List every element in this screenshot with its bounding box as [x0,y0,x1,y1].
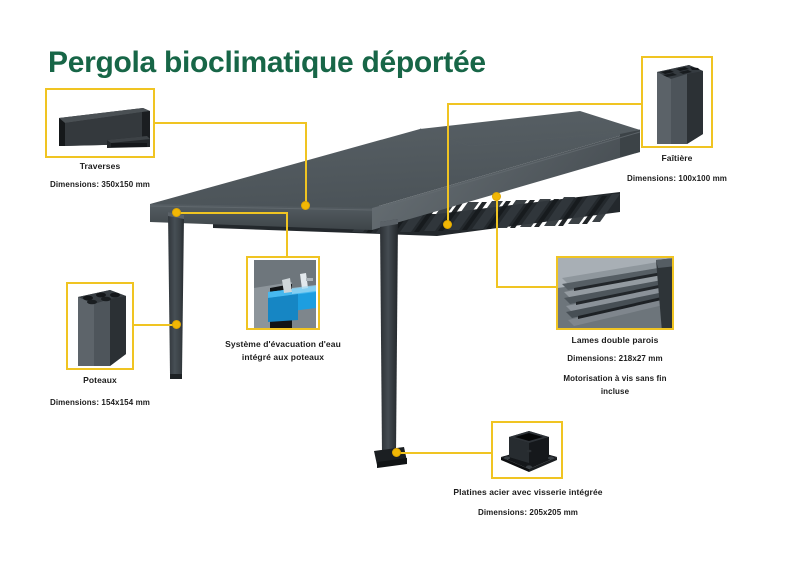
callout-label-lames: Lames double parois [545,334,685,347]
leader-dot-lames [492,192,501,201]
leader-traverses-v1 [305,122,307,206]
callout-label-traverses: Traverses [45,160,155,173]
leader-evac-v1 [286,212,288,257]
post-right [380,219,398,455]
leader-traverses-h1 [155,122,307,124]
ridge-profile-photo [643,58,711,146]
callout-label-evacuation-line2: intégré aux poteaux [208,351,358,364]
leader-dot-faitiere [443,220,452,229]
leader-lames-v1 [496,196,498,288]
post-left [168,212,184,374]
louvre-blades-photo [558,258,672,328]
callout-label-platines: Platines acier avec visserie intégrée [452,486,604,499]
steel-base-plate-photo [493,423,561,477]
callout-dimensions-faitiere: Dimensions: 100x100 mm [602,172,752,185]
diagram-canvas: Pergola bioclimatique déportée [0,0,800,566]
callout-label-faitiere: Faîtière [635,152,719,165]
leader-lames-h1 [496,286,556,288]
callout-dimensions-platines: Dimensions: 205x205 mm [452,506,604,519]
leader-poteaux-h1 [133,324,177,326]
callout-dimensions-poteaux: Dimensions: 154x154 mm [25,396,175,409]
traverse-beam-photo [47,90,153,156]
callout-poteaux[interactable] [66,282,134,370]
leader-dot-platines [392,448,401,457]
callout-label-poteaux: Poteaux [62,374,138,387]
callout-label-evacuation-line1: Système d'évacuation d'eau [208,338,358,351]
leader-dot-poteaux [172,320,181,329]
leader-dot-traverses [301,201,310,210]
leader-dot-evacuation [172,208,181,217]
leader-evac-h1 [176,212,288,214]
callout-extra-lames-line1: Motorisation à vis sans fin [540,372,690,385]
callout-dimensions-lames: Dimensions: 218x27 mm [545,352,685,365]
callout-traverses[interactable] [45,88,155,158]
leader-faitiere-v1 [447,103,449,225]
callout-lames[interactable] [556,256,674,330]
callout-extra-lames-line2: incluse [540,385,690,398]
callout-platines[interactable] [491,421,563,479]
callout-dimensions-traverses: Dimensions: 350x150 mm [25,178,175,191]
callout-evacuation[interactable] [246,256,320,330]
callout-faitiere[interactable] [641,56,713,148]
leader-platines-h1 [396,452,492,454]
post-profile-photo [68,284,132,368]
leader-faitiere-h1 [447,103,642,105]
water-drainage-photo [248,258,318,328]
